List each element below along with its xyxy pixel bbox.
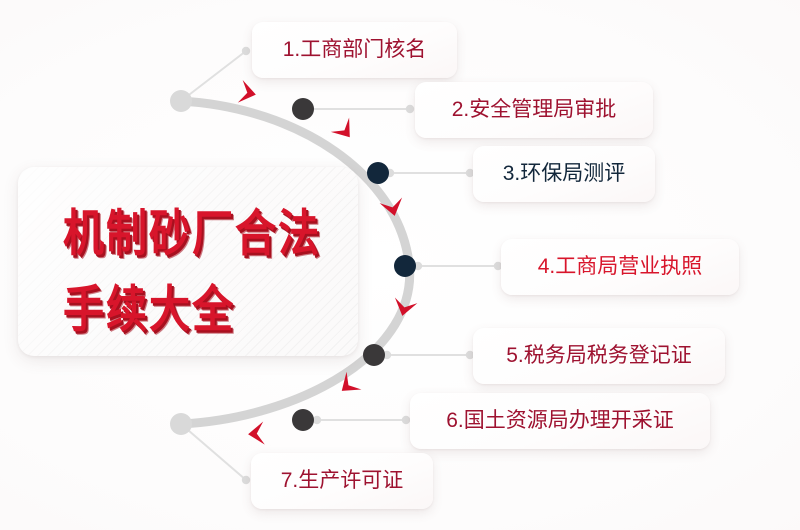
step-label-card-4[interactable]: 4.工商局营业执照 xyxy=(501,239,739,295)
connector-dot-6-end xyxy=(402,416,410,424)
step-label-text-4: 4.工商局营业执照 xyxy=(538,256,703,277)
step-label-text-3: 3.环保局测评 xyxy=(503,163,626,184)
step-dot-3[interactable] xyxy=(367,162,389,184)
step-dot-6[interactable] xyxy=(292,409,314,431)
step-label-text-6: 6.国土资源局办理开采证 xyxy=(446,410,674,431)
connector-dot-2-end xyxy=(406,105,414,113)
connector-line-1 xyxy=(181,51,246,101)
arrow-icon-1 xyxy=(238,80,258,106)
step-dot-2[interactable] xyxy=(292,98,314,120)
connector-line-7 xyxy=(181,424,246,480)
step-label-card-2[interactable]: 2.安全管理局审批 xyxy=(415,82,653,138)
title-line-2: 手续大全 xyxy=(63,285,235,335)
title-card: 机制砂厂合法 手续大全 xyxy=(18,167,358,356)
step-label-card-6[interactable]: 6.国土资源局办理开采证 xyxy=(410,393,710,449)
step-label-card-7[interactable]: 7.生产许可证 xyxy=(251,453,433,509)
step-dot-7[interactable] xyxy=(170,413,192,435)
arrow-icon-2 xyxy=(331,118,359,145)
infographic-canvas: 机制砂厂合法 手续大全 1.工商部门核名 2.安全管理局审批 3.环保局测评 4… xyxy=(0,0,800,530)
step-label-text-7: 7.生产许可证 xyxy=(281,470,404,491)
connector-dot-7-end xyxy=(242,476,250,484)
step-label-text-1: 1.工商部门核名 xyxy=(283,39,427,60)
step-dot-4[interactable] xyxy=(394,255,416,277)
step-dot-5[interactable] xyxy=(363,344,385,366)
step-label-card-3[interactable]: 3.环保局测评 xyxy=(473,146,655,202)
step-dot-1[interactable] xyxy=(170,90,192,112)
title-line-1: 机制砂厂合法 xyxy=(63,209,321,259)
connector-dot-1-end xyxy=(242,47,250,55)
connector-dot-6-start xyxy=(313,416,321,424)
step-label-card-5[interactable]: 5.税务局税务登记证 xyxy=(473,328,725,384)
step-label-card-1[interactable]: 1.工商部门核名 xyxy=(252,22,457,78)
arrow-icon-6 xyxy=(247,422,265,446)
step-label-text-2: 2.安全管理局审批 xyxy=(452,99,617,120)
step-label-text-5: 5.税务局税务登记证 xyxy=(506,345,692,366)
